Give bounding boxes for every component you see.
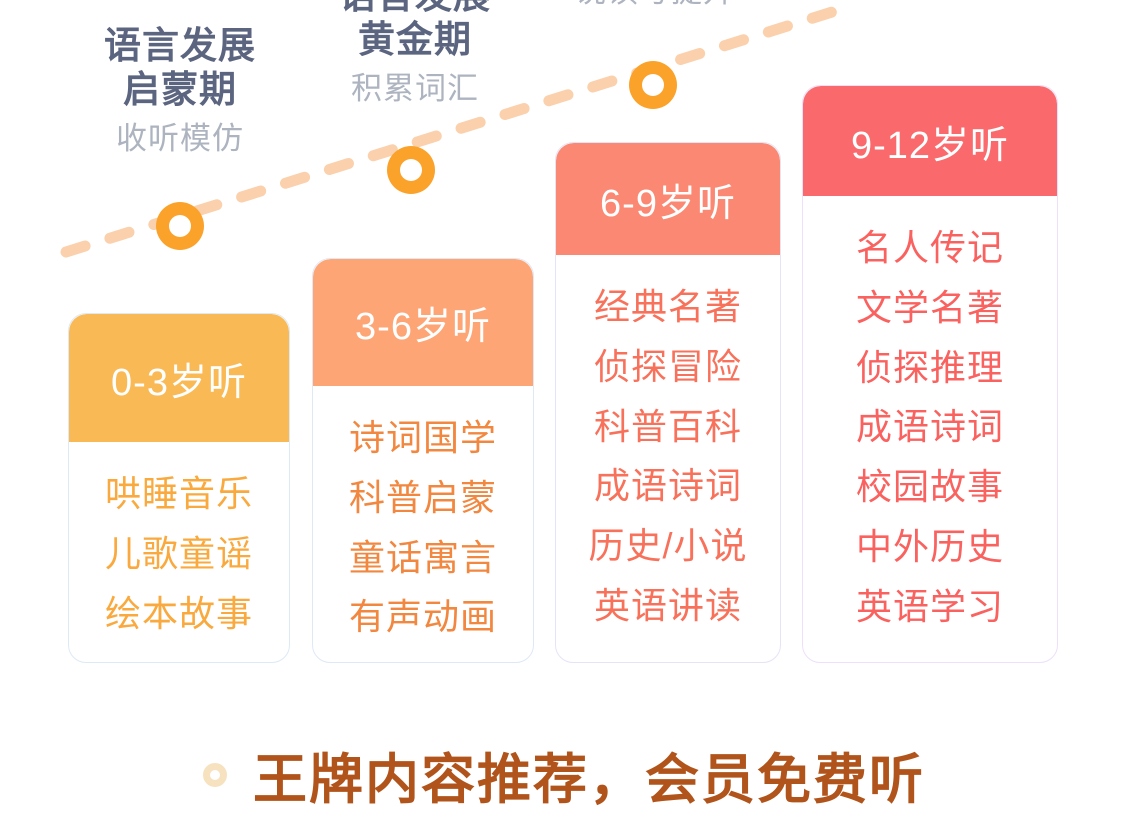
infographic-stage: 语言发展 启蒙期 收听模仿 语言发展 黄金期 积累词汇 说读写提升 0-3岁听 … [0, 0, 1128, 828]
stage-caption-1-sub: 收听模仿 [60, 121, 300, 158]
list-item: 诗词国学 [313, 408, 533, 468]
list-item: 名人传记 [803, 218, 1057, 278]
list-item: 科普百科 [556, 397, 780, 457]
stage-caption-2: 语言发展 黄金期 积累词汇 [295, 0, 535, 108]
list-item: 英语讲读 [556, 576, 780, 636]
bottom-banner: 王牌内容推荐，会员免费听 [0, 735, 1128, 814]
list-item: 儿歌童谣 [69, 524, 289, 584]
stage-caption-2-main-line2: 黄金期 [295, 18, 535, 62]
list-item: 中外历史 [803, 517, 1057, 577]
age-card-9-12-body: 名人传记 文学名著 侦探推理 成语诗词 校园故事 中外历史 英语学习 [803, 196, 1057, 662]
stage-caption-1: 语言发展 启蒙期 收听模仿 [60, 24, 300, 158]
list-item: 侦探推理 [803, 338, 1057, 398]
age-card-0-3-body: 哄睡音乐 儿歌童谣 绘本故事 [69, 442, 289, 662]
list-item: 成语诗词 [803, 397, 1057, 457]
list-item: 经典名著 [556, 277, 780, 337]
list-item: 英语学习 [803, 577, 1057, 637]
list-item: 文学名著 [803, 278, 1057, 338]
stage-marker-1-icon [156, 202, 204, 250]
age-card-3-6-header: 3-6岁听 [313, 259, 533, 386]
age-card-3-6-body: 诗词国学 科普启蒙 童话寓言 有声动画 [313, 386, 533, 662]
stage-marker-3-icon [629, 61, 677, 109]
age-card-6-9-body: 经典名著 侦探冒险 科普百科 成语诗词 历史/小说 英语讲读 [556, 255, 780, 662]
list-item: 童话寓言 [313, 528, 533, 588]
age-card-3-6[interactable]: 3-6岁听 诗词国学 科普启蒙 童话寓言 有声动画 [312, 258, 534, 663]
list-item: 有声动画 [313, 587, 533, 647]
list-item: 校园故事 [803, 457, 1057, 517]
age-card-9-12[interactable]: 9-12岁听 名人传记 文学名著 侦探推理 成语诗词 校园故事 中外历史 英语学… [802, 85, 1058, 663]
age-card-6-9-header: 6-9岁听 [556, 143, 780, 255]
list-item: 历史/小说 [556, 516, 780, 576]
list-item: 哄睡音乐 [69, 464, 289, 524]
age-card-0-3[interactable]: 0-3岁听 哄睡音乐 儿歌童谣 绘本故事 [68, 313, 290, 663]
stage-marker-2-icon [387, 146, 435, 194]
age-card-0-3-header: 0-3岁听 [69, 314, 289, 442]
ring-bullet-icon [203, 763, 227, 787]
stage-caption-2-sub: 积累词汇 [295, 71, 535, 108]
list-item: 绘本故事 [69, 584, 289, 644]
list-item: 科普启蒙 [313, 468, 533, 528]
stage-caption-2-main-line1: 语言发展 [295, 0, 535, 18]
age-card-6-9[interactable]: 6-9岁听 经典名著 侦探冒险 科普百科 成语诗词 历史/小说 英语讲读 [555, 142, 781, 663]
stage-caption-1-main-line2: 启蒙期 [60, 68, 300, 112]
stage-caption-3-sub: 说读写提升 [535, 0, 775, 11]
list-item: 成语诗词 [556, 456, 780, 516]
banner-headline: 王牌内容推荐，会员免费听 [253, 735, 925, 814]
stage-caption-3: 说读写提升 [535, 0, 775, 11]
age-card-9-12-header: 9-12岁听 [803, 86, 1057, 196]
list-item: 侦探冒险 [556, 337, 780, 397]
stage-caption-1-main-line1: 语言发展 [60, 24, 300, 68]
